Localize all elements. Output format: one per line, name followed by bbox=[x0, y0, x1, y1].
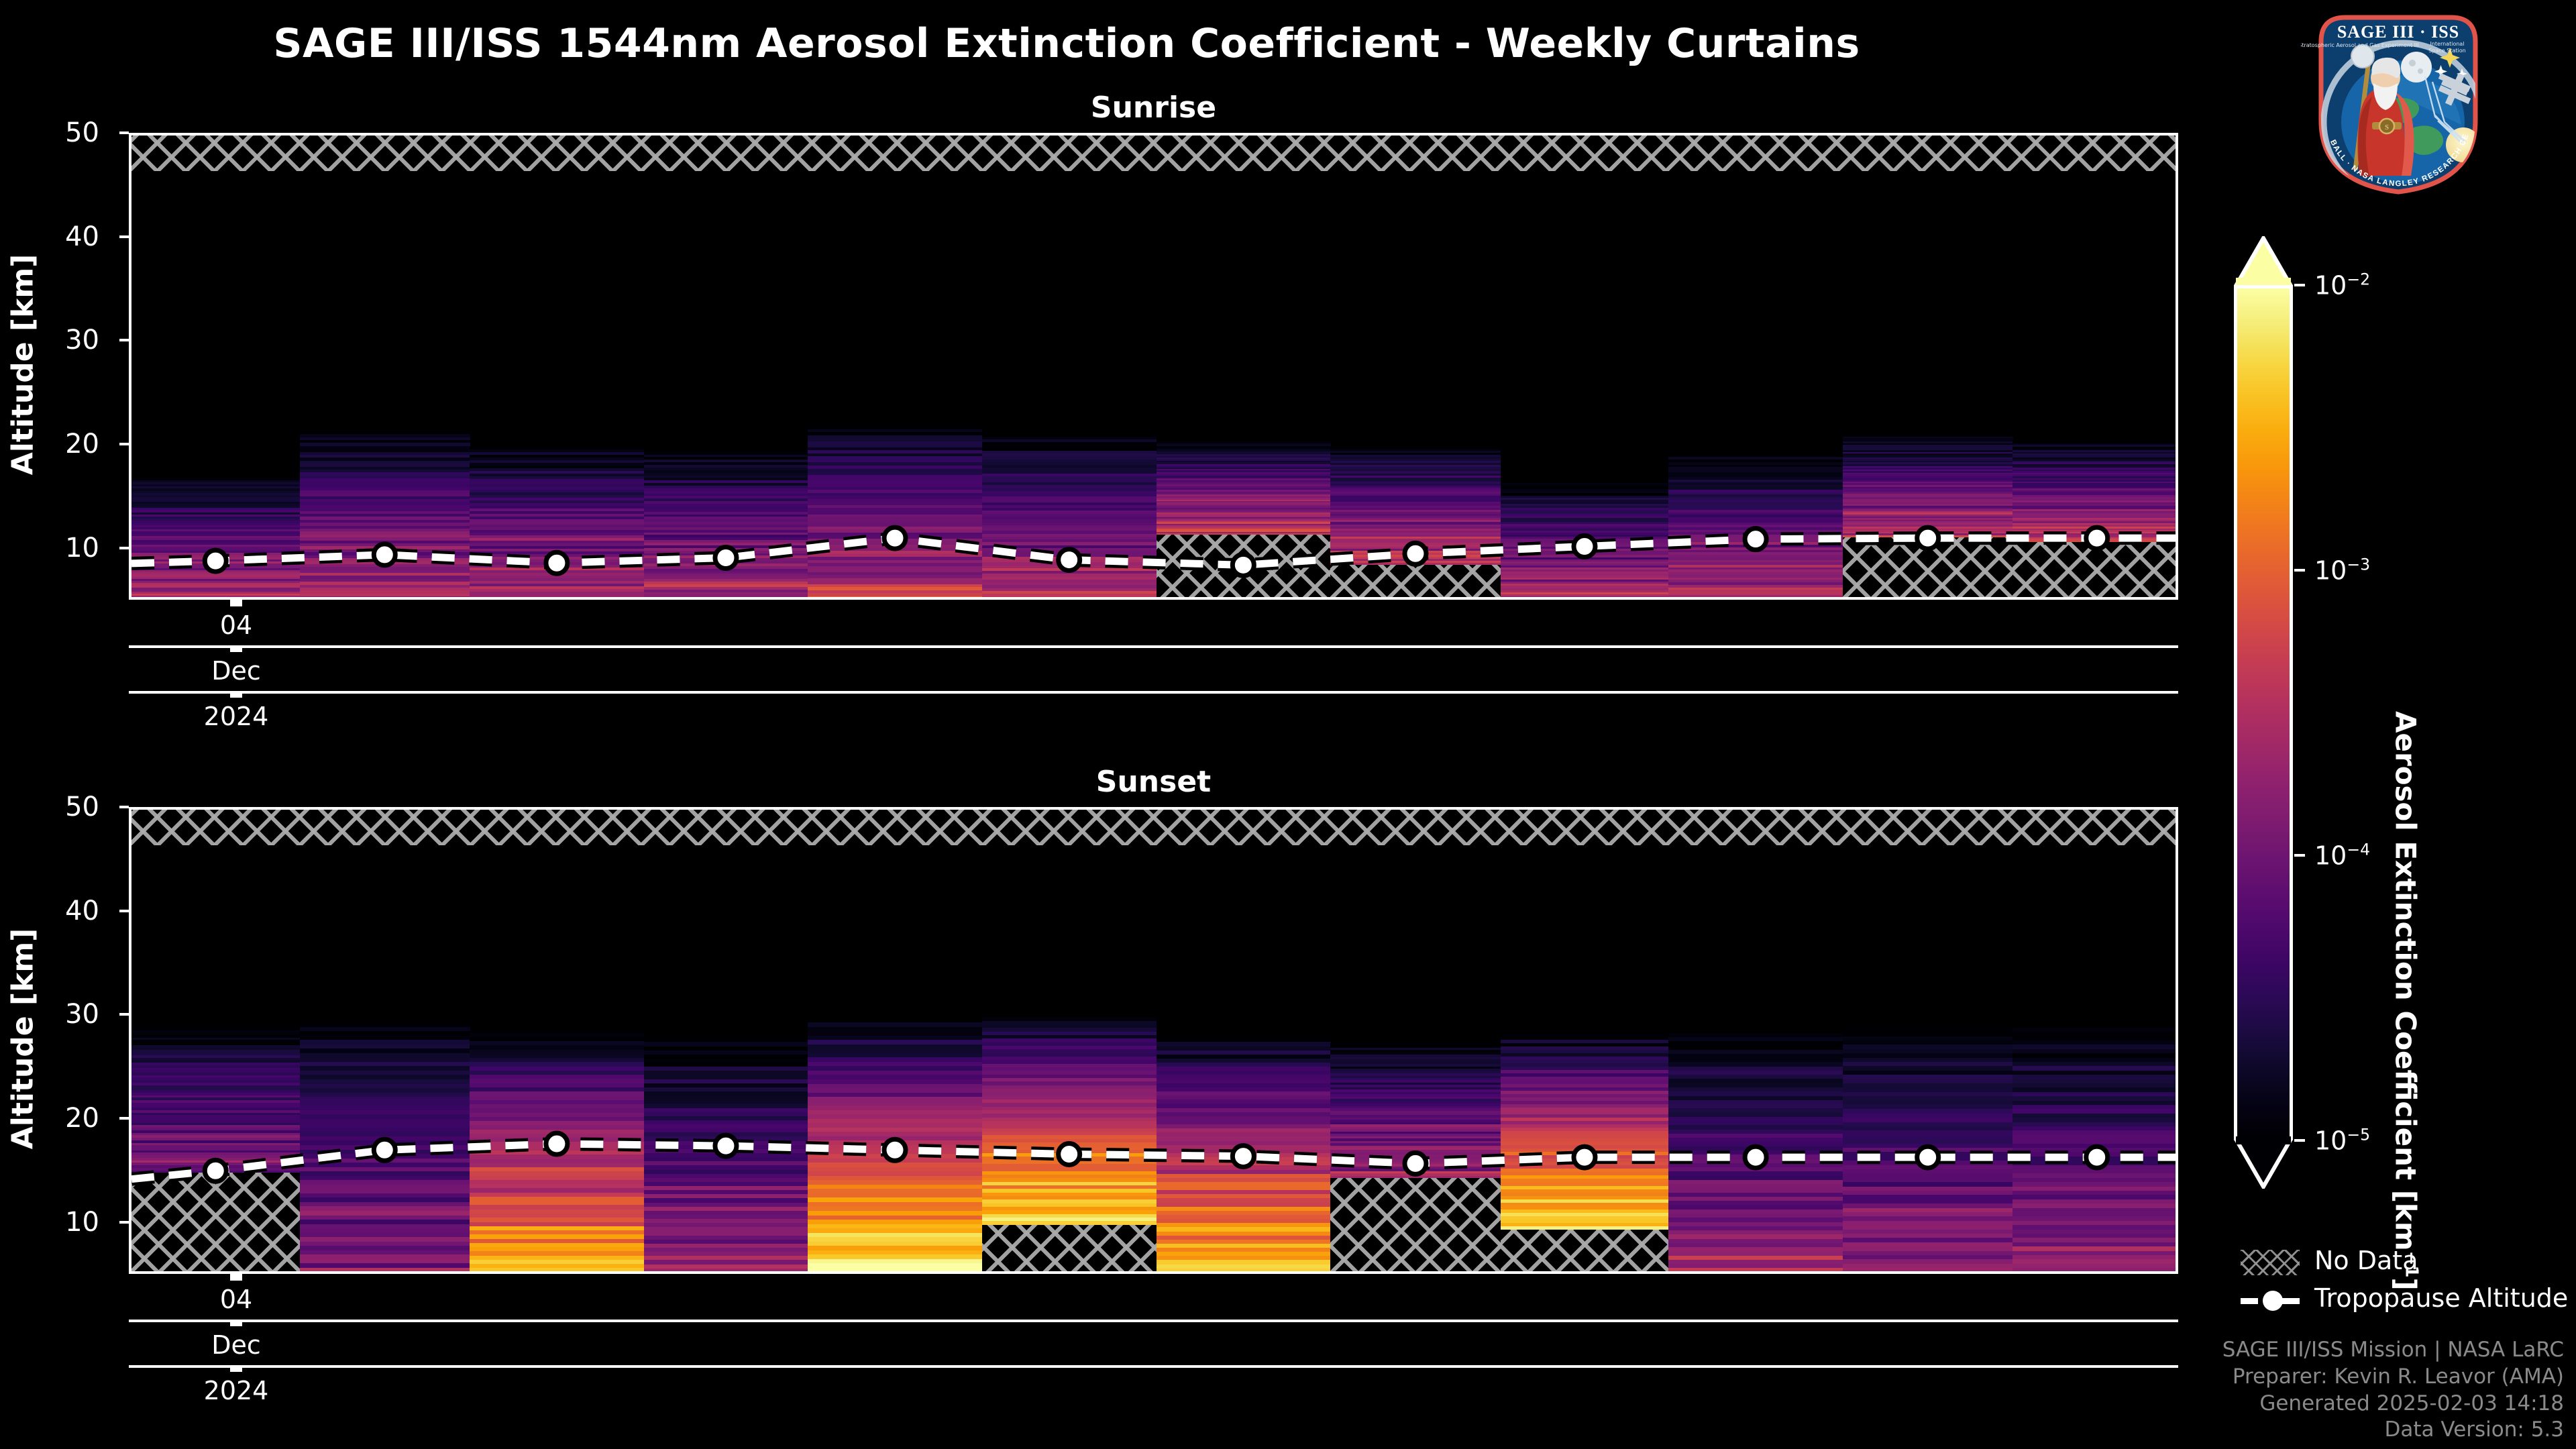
y-tick-label: 10 bbox=[32, 1207, 99, 1238]
y-tick-mark bbox=[119, 910, 129, 912]
colorbar-gradient bbox=[2234, 285, 2293, 1140]
no-data-hatch-icon bbox=[2241, 1250, 2300, 1275]
tropopause-marker bbox=[1574, 1146, 1595, 1168]
date-month: Dec bbox=[211, 1330, 261, 1360]
legend: No Data Tropopause Altitude bbox=[2241, 1244, 2576, 1320]
colorbar-tick-mark bbox=[2294, 1139, 2305, 1142]
tropopause-marker bbox=[2086, 527, 2108, 549]
tropopause-marker bbox=[1745, 529, 1766, 550]
tropopause-marker bbox=[2086, 1146, 2108, 1168]
date-axis-tick bbox=[230, 645, 242, 652]
date-axis-tick bbox=[230, 691, 242, 698]
colorbar-tick-mark bbox=[2294, 284, 2305, 286]
tropopause-marker bbox=[884, 527, 906, 549]
y-tick-label: 20 bbox=[32, 429, 99, 460]
y-tick-label: 30 bbox=[32, 999, 99, 1030]
tropopause-marker bbox=[1059, 549, 1080, 571]
tropopause-series bbox=[131, 810, 2178, 1274]
tropopause-marker bbox=[1232, 1146, 1254, 1167]
panel-title-sunrise: Sunrise bbox=[129, 91, 2178, 125]
tropopause-marker bbox=[546, 552, 568, 574]
tropopause-marker bbox=[374, 544, 395, 566]
date-axis-tick bbox=[230, 1274, 242, 1281]
tropopause-marker bbox=[374, 1139, 395, 1161]
logo-subtitle-left: Stratospheric Aerosol and Gas Experiment… bbox=[2301, 42, 2419, 48]
tropopause-marker bbox=[884, 1139, 906, 1161]
tropopause-series bbox=[131, 136, 2178, 600]
y-tick-mark bbox=[119, 806, 129, 808]
colorbar: 10−210−310−410−5 Aerosol Extinction Coef… bbox=[2214, 195, 2563, 1228]
y-tick-label: 10 bbox=[32, 533, 99, 563]
page-title: SAGE III/ISS 1544nm Aerosol Extinction C… bbox=[0, 20, 2133, 67]
y-tick-label: 50 bbox=[32, 117, 99, 148]
tropopause-marker bbox=[1405, 1152, 1426, 1174]
y-tick-label: 50 bbox=[32, 792, 99, 822]
y-tick-mark bbox=[119, 1221, 129, 1224]
sunrise-date-axis: 04Dec2024 bbox=[129, 601, 2178, 729]
legend-item-tropopause: Tropopause Altitude bbox=[2241, 1282, 2576, 1320]
logo-subtitle-right-2: Space Station bbox=[2428, 48, 2465, 54]
tropopause-marker bbox=[1405, 543, 1426, 564]
svg-text:S: S bbox=[2385, 123, 2389, 131]
logo-title: SAGE III · ISS bbox=[2337, 22, 2459, 42]
tropopause-marker bbox=[205, 550, 226, 572]
legend-item-no-data: No Data bbox=[2241, 1244, 2576, 1282]
y-axis-label: Altitude [km] bbox=[6, 806, 40, 1273]
tropopause-marker bbox=[1745, 1146, 1766, 1168]
tropopause-marker bbox=[715, 1135, 737, 1157]
date-day: 04 bbox=[220, 610, 252, 640]
tropopause-marker bbox=[1232, 554, 1254, 576]
y-tick-label: 40 bbox=[32, 221, 99, 252]
colorbar-extend-bottom-icon bbox=[2234, 1136, 2293, 1185]
date-day: 04 bbox=[220, 1285, 252, 1314]
logo-subtitle-right-1: International bbox=[2430, 41, 2464, 47]
sunset-plot-area bbox=[129, 807, 2178, 1274]
tropopause-marker bbox=[1059, 1143, 1080, 1165]
colorbar-tick-mark bbox=[2294, 854, 2305, 857]
footer-data-version: Data Version: 5.3 bbox=[2222, 1417, 2564, 1444]
y-tick-mark bbox=[119, 443, 129, 445]
date-month: Dec bbox=[211, 656, 261, 686]
colorbar-tick-label: 10−2 bbox=[2314, 270, 2370, 301]
colorbar-tick-label: 10−5 bbox=[2314, 1126, 2370, 1156]
colorbar-tick-mark bbox=[2294, 569, 2305, 572]
y-tick-mark bbox=[119, 131, 129, 134]
date-year: 2024 bbox=[204, 702, 269, 731]
y-tick-mark bbox=[119, 339, 129, 341]
y-tick-mark bbox=[119, 235, 129, 238]
sunset-date-axis: 04Dec2024 bbox=[129, 1275, 2178, 1403]
tropopause-marker bbox=[205, 1160, 226, 1181]
footer-metadata: SAGE III/ISS Mission | NASA LaRC Prepare… bbox=[2222, 1337, 2564, 1444]
y-axis-label: Altitude [km] bbox=[6, 131, 40, 598]
legend-label-no-data: No Data bbox=[2314, 1246, 2418, 1275]
date-axis-rule bbox=[129, 1320, 2178, 1322]
sunset-y-axis: 1020304050Altitude [km] bbox=[0, 807, 129, 1274]
sage-iii-iss-logo: S BALL · NASA LANGLEY RESEARCH CENTER · … bbox=[2301, 3, 2495, 197]
y-tick-mark bbox=[119, 1117, 129, 1120]
y-tick-mark bbox=[119, 547, 129, 549]
colorbar-tick-label: 10−3 bbox=[2314, 555, 2370, 586]
tropopause-marker bbox=[546, 1133, 568, 1155]
tropopause-marker bbox=[1917, 527, 1939, 549]
footer-generated: Generated 2025-02-03 14:18 bbox=[2222, 1391, 2564, 1417]
colorbar-tick-label: 10−4 bbox=[2314, 841, 2370, 871]
colorbar-axis-label: Aerosol Extinction Coefficient [km−1] bbox=[2390, 711, 2422, 1291]
date-axis-tick bbox=[230, 1365, 242, 1372]
tropopause-marker bbox=[715, 547, 737, 568]
y-tick-mark bbox=[119, 1013, 129, 1016]
sunrise-plot-area bbox=[129, 133, 2178, 600]
tropopause-marker bbox=[1574, 535, 1595, 557]
date-axis-tick bbox=[230, 600, 242, 606]
date-axis-rule bbox=[129, 645, 2178, 648]
tropopause-marker bbox=[1917, 1146, 1939, 1168]
colorbar-extend-top-icon bbox=[2234, 236, 2293, 284]
date-axis-tick bbox=[230, 1320, 242, 1326]
legend-label-tropopause: Tropopause Altitude bbox=[2314, 1283, 2568, 1313]
sunrise-y-axis: 1020304050Altitude [km] bbox=[0, 133, 129, 600]
footer-mission: SAGE III/ISS Mission | NASA LaRC bbox=[2222, 1337, 2564, 1364]
footer-preparer: Preparer: Kevin R. Leavor (AMA) bbox=[2222, 1364, 2564, 1391]
y-tick-label: 20 bbox=[32, 1103, 99, 1134]
date-axis-rule bbox=[129, 691, 2178, 694]
panel-title-sunset: Sunset bbox=[129, 765, 2178, 799]
date-axis-rule bbox=[129, 1365, 2178, 1368]
y-tick-label: 40 bbox=[32, 896, 99, 926]
tropopause-line-icon bbox=[2241, 1298, 2300, 1304]
date-year: 2024 bbox=[204, 1376, 269, 1405]
y-tick-label: 30 bbox=[32, 325, 99, 356]
